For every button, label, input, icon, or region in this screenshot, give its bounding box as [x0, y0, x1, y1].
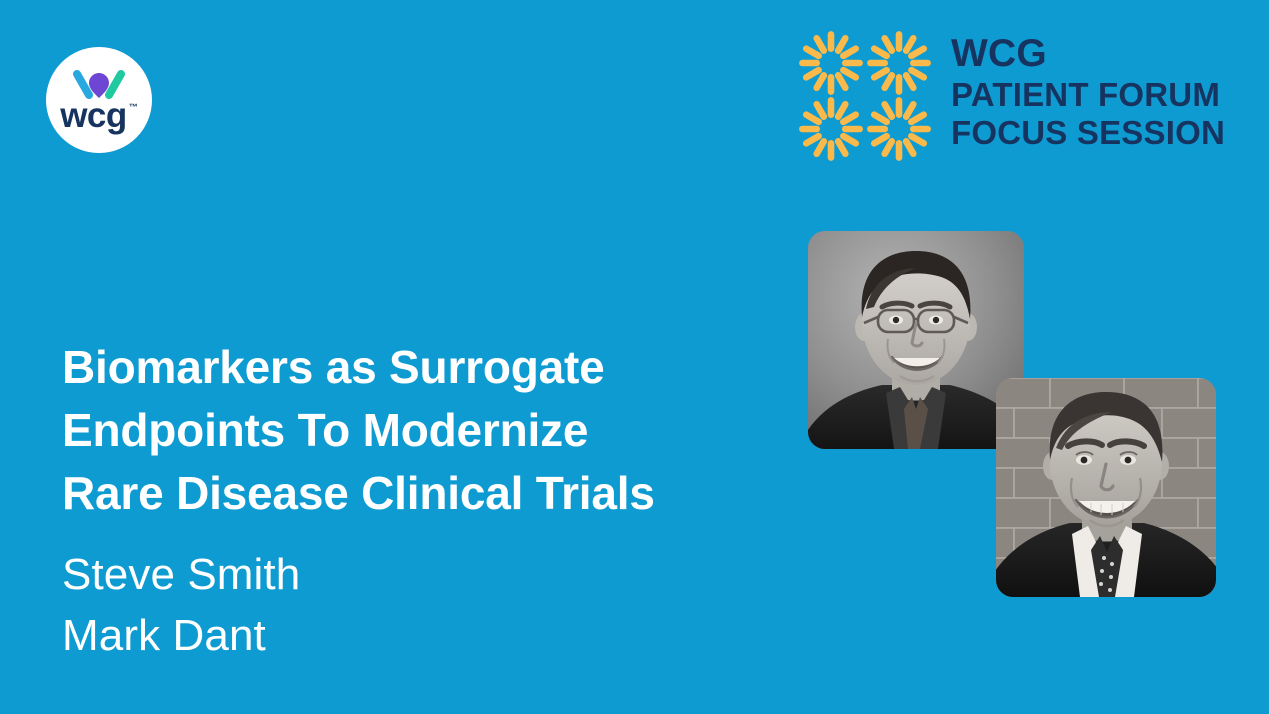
starburst-icon: [865, 96, 933, 162]
trademark-symbol: ™: [129, 103, 138, 112]
title-line-1: Biomarkers as Surrogate: [62, 336, 742, 399]
brand-line-focus-session: FOCUS SESSION: [951, 116, 1225, 149]
title-line-3: Rare Disease Clinical Trials: [62, 462, 742, 525]
wcg-logo: wcg ™: [46, 47, 152, 153]
brand-line-patient-forum: PATIENT FORUM: [951, 78, 1225, 111]
starburst-grid: [797, 30, 933, 162]
speaker-list: Steve Smith Mark Dant: [62, 545, 742, 666]
speaker-photo-steve-smith: [808, 231, 1024, 449]
starburst-icon: [797, 30, 865, 96]
presentation-title-slide: wcg ™: [0, 0, 1269, 714]
brand-text-block: WCG PATIENT FORUM FOCUS SESSION: [951, 26, 1225, 149]
title-line-2: Endpoints To Modernize: [62, 399, 742, 462]
wcg-wordmark: wcg ™: [60, 101, 138, 131]
speaker-name-1: Steve Smith: [62, 545, 742, 606]
brand-line-wcg: WCG: [951, 34, 1225, 73]
starburst-icon: [865, 30, 933, 96]
page-title: Biomarkers as Surrogate Endpoints To Mod…: [62, 336, 742, 525]
speaker-photo-mark-dant: [996, 378, 1216, 597]
wcg-wordmark-text: wcg: [60, 101, 127, 131]
headshot-illustration: [808, 231, 1024, 449]
headshot-illustration: [996, 378, 1216, 597]
speaker-name-2: Mark Dant: [62, 606, 742, 667]
starburst-icon: [797, 96, 865, 162]
slide-text-block: Biomarkers as Surrogate Endpoints To Mod…: [62, 336, 742, 666]
event-brand-lockup: WCG PATIENT FORUM FOCUS SESSION: [797, 26, 1225, 162]
